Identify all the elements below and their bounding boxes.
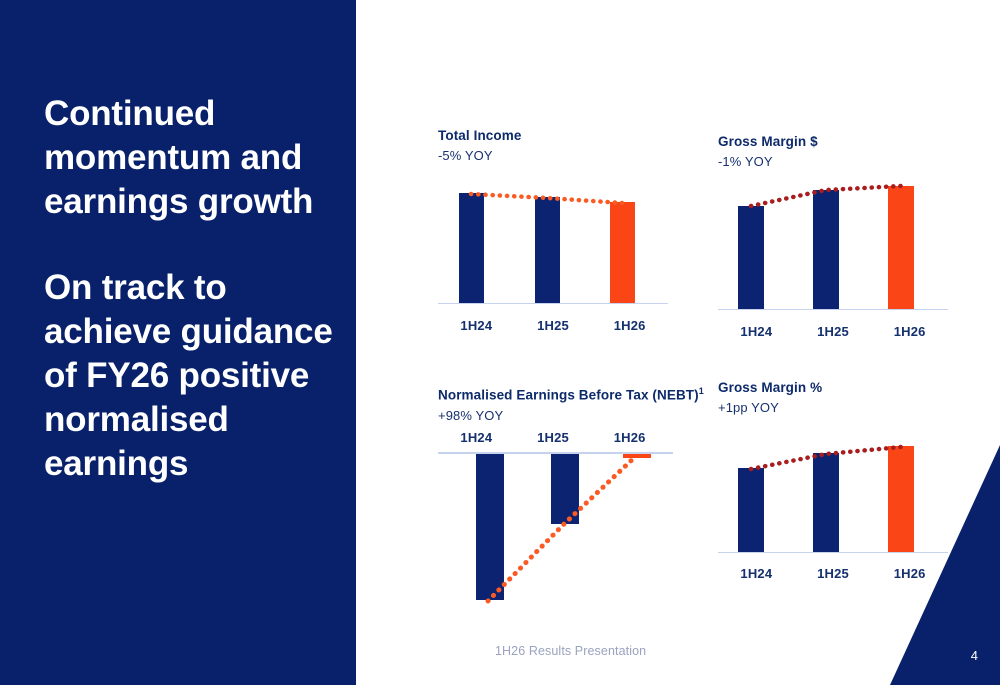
category-labels-total-income: 1H24 1H25 1H26	[438, 318, 668, 333]
category-label: 1H25	[515, 430, 592, 445]
chart-subtitle-total-income: -5% YOY	[438, 148, 678, 163]
chart-title-nebt: Normalised Earnings Before Tax (NEBT)1	[438, 386, 688, 403]
chart-total-income: Total Income -5% YOY 1H24 1H25 1H26	[438, 128, 678, 338]
chart-title-total-income: Total Income	[438, 128, 678, 143]
category-label: 1H24	[438, 430, 515, 445]
sidebar-panel: Continued momentum and earnings growth O…	[0, 0, 356, 685]
category-labels-nebt: 1H24 1H25 1H26	[438, 430, 668, 445]
footer-note: 1H26 Results Presentation	[495, 644, 646, 658]
category-labels-gross-margin-dollar: 1H24 1H25 1H26	[718, 324, 948, 339]
category-label: 1H24	[438, 318, 515, 333]
headline-primary: Continued momentum and earnings growth	[44, 92, 344, 224]
chart-subtitle-gross-margin-dollar: -1% YOY	[718, 154, 958, 169]
category-label: 1H25	[795, 566, 872, 581]
category-label: 1H24	[718, 566, 795, 581]
plot-gross-margin-dollar	[718, 186, 948, 310]
corner-decoration	[890, 445, 1000, 685]
chart-gross-margin-dollar: Gross Margin $ -1% YOY 1H24 1H25 1H26	[718, 134, 958, 344]
page-number: 4	[971, 648, 978, 663]
chart-title-gross-margin-percent: Gross Margin %	[718, 380, 958, 395]
headline-secondary: On track to achieve guidance of FY26 pos…	[44, 266, 344, 486]
category-label: 1H25	[515, 318, 592, 333]
category-label: 1H25	[795, 324, 872, 339]
plot-nebt	[438, 452, 673, 607]
chart-title-nebt-text: Normalised Earnings Before Tax (NEBT)	[438, 388, 699, 403]
chart-subtitle-gross-margin-percent: +1pp YOY	[718, 400, 958, 415]
slide: Continued momentum and earnings growth O…	[0, 0, 1000, 685]
chart-subtitle-nebt: +98% YOY	[438, 408, 688, 423]
chart-title-gross-margin-dollar: Gross Margin $	[718, 134, 958, 149]
chart-nebt: Normalised Earnings Before Tax (NEBT)1 +…	[438, 386, 688, 616]
corner-triangle-shape	[890, 445, 1000, 685]
sidebar-content: Continued momentum and earnings growth O…	[44, 92, 344, 486]
category-label: 1H24	[718, 324, 795, 339]
category-label: 1H26	[871, 324, 948, 339]
trend-line-total-income	[438, 186, 668, 304]
plot-total-income	[438, 186, 668, 304]
trend-line-nebt	[438, 452, 673, 607]
category-label: 1H26	[591, 318, 668, 333]
chart-title-nebt-superscript: 1	[699, 386, 704, 396]
category-label: 1H26	[591, 430, 668, 445]
trend-line-gross-margin-dollar	[718, 186, 948, 310]
